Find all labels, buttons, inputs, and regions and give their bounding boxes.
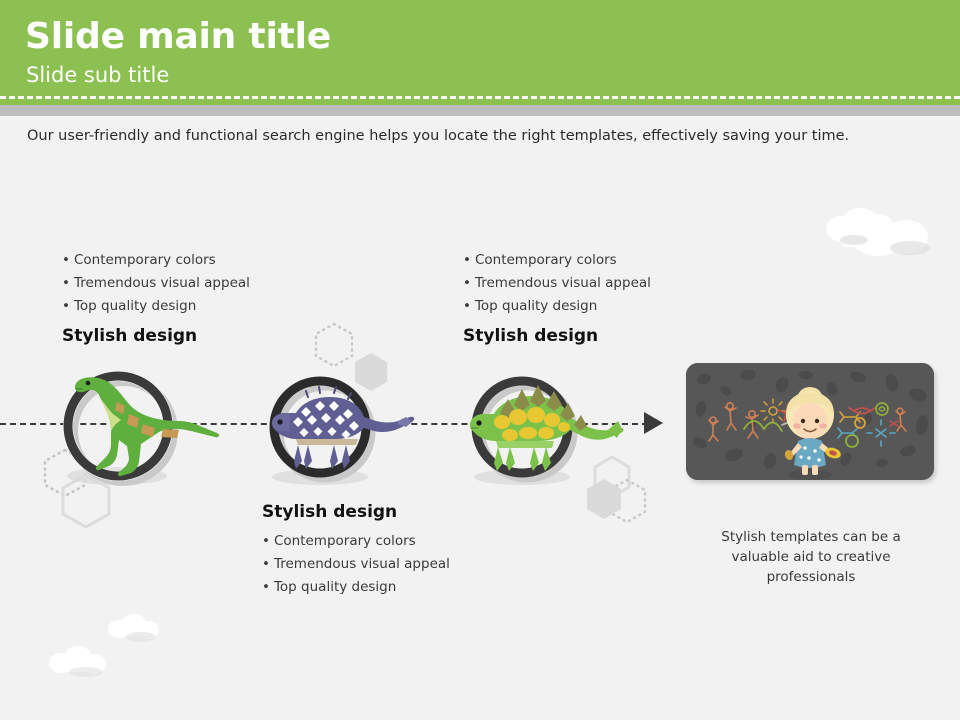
page-title: Slide main title bbox=[25, 16, 331, 57]
cave-painting-panel[interactable] bbox=[686, 363, 934, 480]
block-heading-3: Stylish design bbox=[463, 326, 693, 346]
list-item: •Top quality design bbox=[262, 576, 492, 599]
bullet-icon: • bbox=[262, 533, 270, 549]
bullet-icon: • bbox=[62, 298, 70, 314]
list-item: •Tremendous visual appeal bbox=[62, 272, 292, 295]
block-heading-2: Stylish design bbox=[262, 502, 492, 522]
bullet-text: Contemporary colors bbox=[74, 252, 216, 268]
list-item: •Top quality design bbox=[62, 295, 292, 318]
cave-caption: Stylish templates can be a valuable aid … bbox=[700, 527, 922, 587]
node-2-ring[interactable] bbox=[258, 365, 423, 490]
slide-canvas: Slide main title Slide sub title Our use… bbox=[0, 0, 960, 720]
bullet-icon: • bbox=[463, 298, 471, 314]
list-item: •Top quality design bbox=[463, 295, 693, 318]
bullet-icon: • bbox=[262, 579, 270, 595]
text-block-1: •Contemporary colors •Tremendous visual … bbox=[62, 249, 292, 346]
cloud-bottom-left-small bbox=[103, 612, 163, 646]
node-3-ring[interactable] bbox=[458, 365, 633, 490]
bullet-text: Top quality design bbox=[475, 298, 597, 314]
bullet-text: Top quality design bbox=[274, 579, 396, 595]
bullet-list-2: •Contemporary colors •Tremendous visual … bbox=[262, 530, 492, 599]
bullet-icon: • bbox=[463, 275, 471, 291]
text-block-3: •Contemporary colors •Tremendous visual … bbox=[463, 249, 693, 346]
bullet-text: Tremendous visual appeal bbox=[274, 556, 450, 572]
list-item: •Contemporary colors bbox=[262, 530, 492, 553]
bullet-text: Tremendous visual appeal bbox=[74, 275, 250, 291]
bullet-text: Top quality design bbox=[74, 298, 196, 314]
page-subtitle: Slide sub title bbox=[26, 63, 169, 87]
list-item: •Contemporary colors bbox=[463, 249, 693, 272]
list-item: •Tremendous visual appeal bbox=[262, 553, 492, 576]
timeline-arrow-icon bbox=[644, 412, 663, 434]
bullet-text: Contemporary colors bbox=[274, 533, 416, 549]
hexagon-dotted-mid bbox=[313, 322, 355, 368]
bullet-icon: • bbox=[62, 275, 70, 291]
list-item: •Contemporary colors bbox=[62, 249, 292, 272]
bullet-text: Contemporary colors bbox=[475, 252, 617, 268]
bullet-list-1: •Contemporary colors •Tremendous visual … bbox=[62, 249, 292, 318]
bullet-text: Tremendous visual appeal bbox=[475, 275, 651, 291]
cave-painting-girl-icon bbox=[686, 363, 934, 480]
header-gray-bar bbox=[0, 105, 960, 116]
lead-paragraph: Our user-friendly and functional search … bbox=[27, 128, 849, 144]
list-item: •Tremendous visual appeal bbox=[463, 272, 693, 295]
bullet-icon: • bbox=[463, 252, 471, 268]
bullet-list-3: •Contemporary colors •Tremendous visual … bbox=[463, 249, 693, 318]
cloud-top-right bbox=[818, 205, 938, 260]
text-block-2: Stylish design •Contemporary colors •Tre… bbox=[262, 502, 492, 599]
node-1-ring[interactable] bbox=[55, 358, 235, 493]
bullet-icon: • bbox=[62, 252, 70, 268]
header-dashed-divider bbox=[0, 96, 960, 99]
cloud-bottom-left-large bbox=[44, 643, 110, 681]
bullet-icon: • bbox=[262, 556, 270, 572]
block-heading-1: Stylish design bbox=[62, 326, 292, 346]
